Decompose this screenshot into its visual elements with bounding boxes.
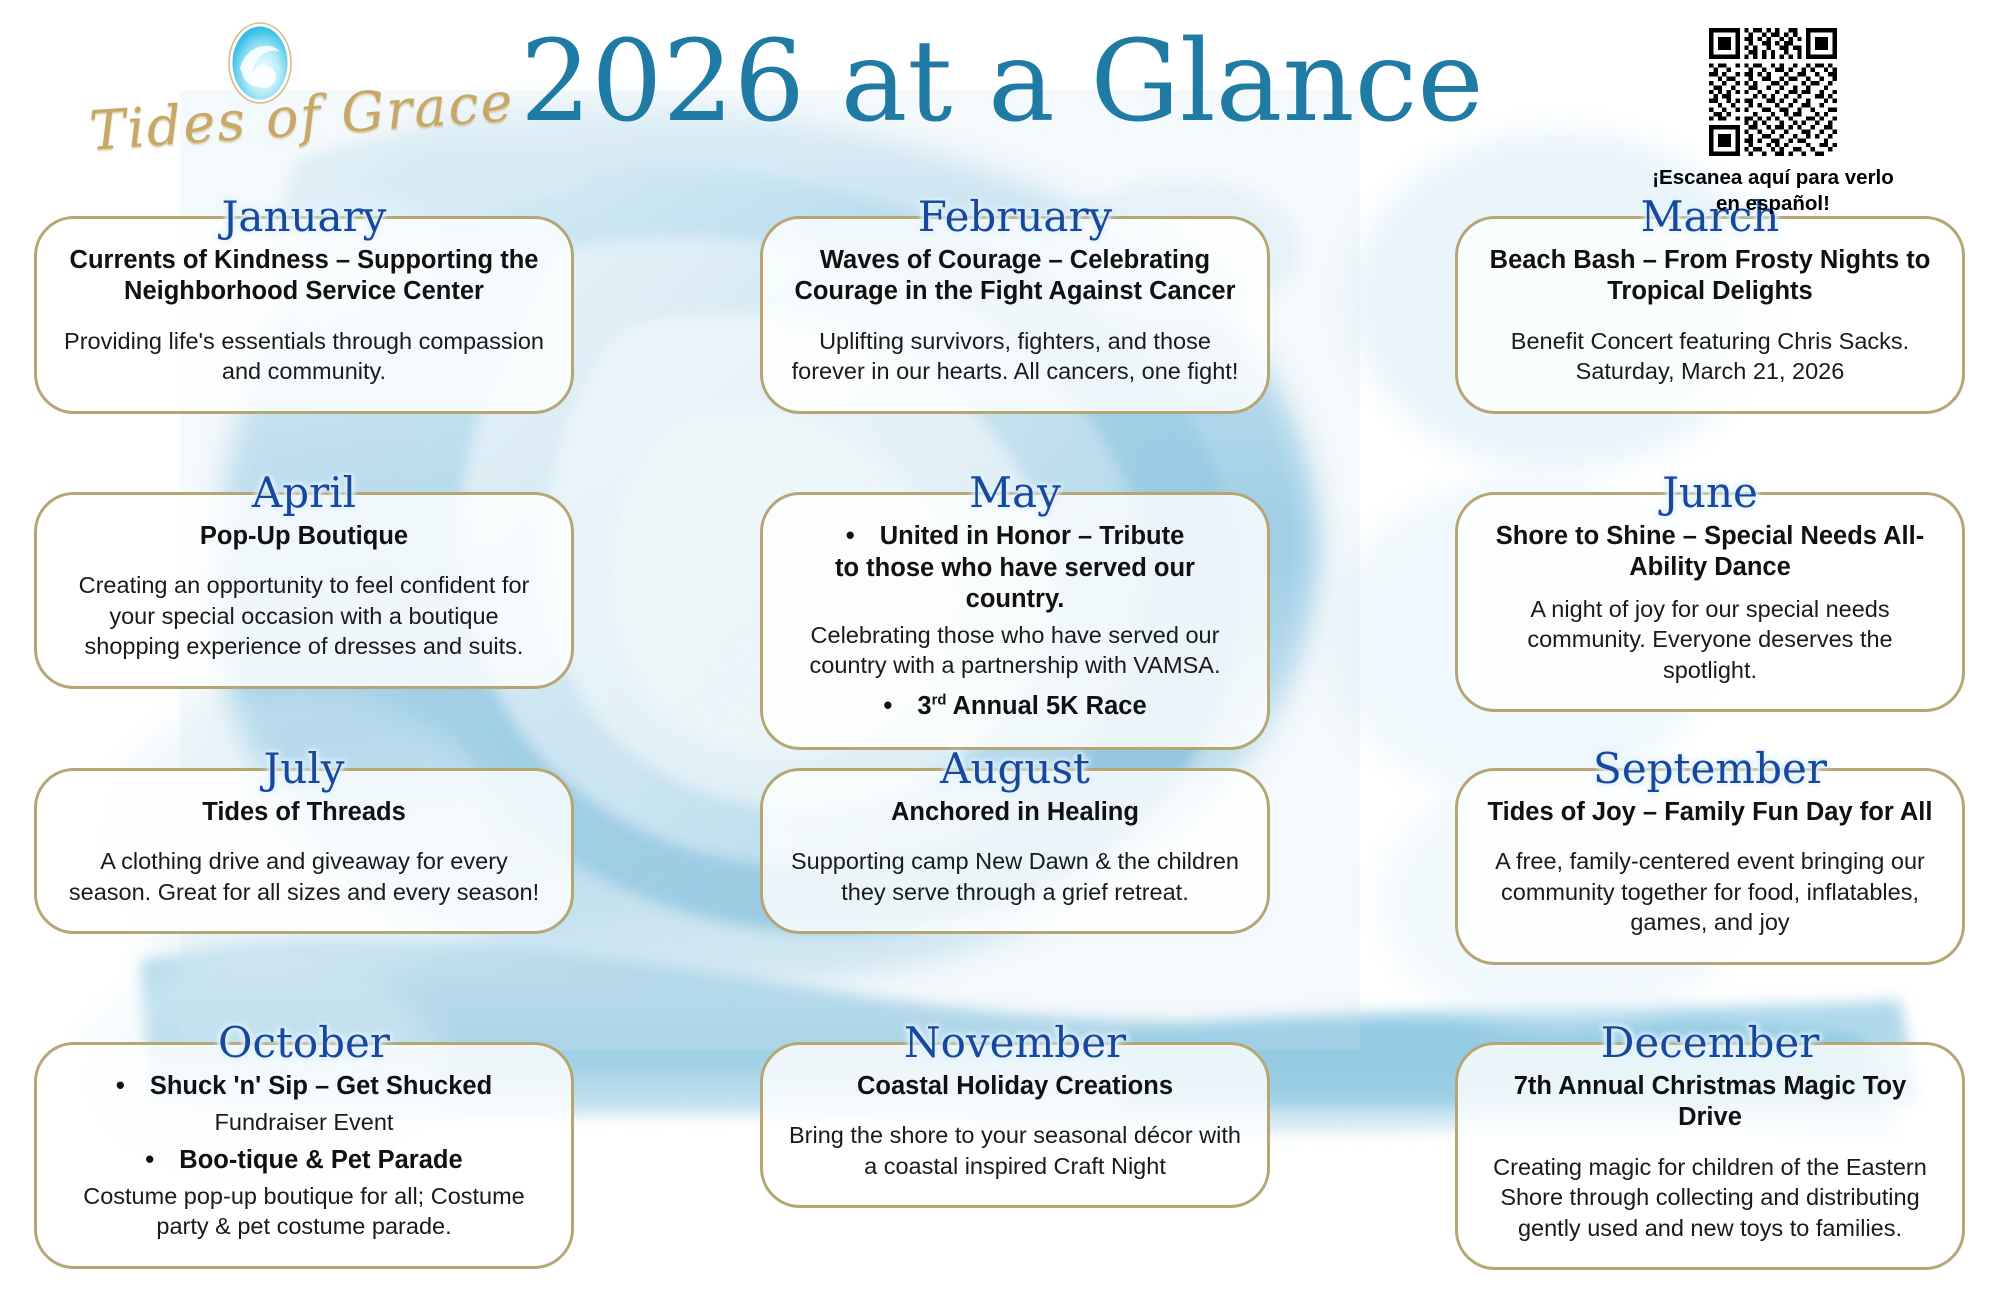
qr-caption-line-1: ¡Escanea aquí para verlo [1652,166,1894,189]
month-label-september: September [1581,748,1839,790]
month-card-september[interactable]: September Tides of Joy – Family Fun Day … [1455,748,1965,965]
card-title: 7th Annual Christmas Magic Toy Drive [1484,1071,1936,1134]
bullet-text: Annual 5K Race [946,692,1146,720]
month-card-may[interactable]: May •United in Honor – Tribute to those … [760,472,1270,750]
bullet-text-number: 3 [917,692,931,720]
brand-logo: Tides of Grace [90,14,480,174]
card-title: Shore to Shine – Special Needs All-Abili… [1484,521,1936,584]
month-card-april[interactable]: April Pop-Up Boutique Creating an opport… [34,472,574,689]
month-label-december: December [1589,1022,1832,1064]
card-title: Waves of Courage – Celebrating Courage i… [789,245,1241,308]
card-subtitle: Benefit Concert featuring Chris Sacks. S… [1484,326,1936,387]
month-label-april: April [240,472,368,514]
month-label-august: August [928,748,1102,790]
card-note: Celebrating those who have served our co… [789,620,1241,681]
card-subtitle: Supporting camp New Dawn & the children … [789,846,1241,907]
qr-caption: ¡Escanea aquí para verlo en español! [1638,165,1908,217]
card-note-2: Costume pop-up boutique for all; Costume… [63,1181,545,1242]
card-bullet-list-2: •Boo-tique & Pet Parade [63,1145,545,1177]
month-card-october[interactable]: October •Shuck 'n' Sip – Get Shucked Fun… [34,1022,574,1269]
card-subtitle: Creating an opportunity to feel confiden… [63,570,545,662]
month-card-june[interactable]: June Shore to Shine – Special Needs All-… [1455,472,1965,712]
month-card-march[interactable]: March Beach Bash – From Frosty Nights to… [1455,196,1965,414]
card-bullet-list: •United in Honor – Tribute to those who … [789,521,1241,616]
card-title: Tides of Joy – Family Fun Day for All [1484,797,1936,828]
qr-code-icon[interactable] [1709,28,1837,156]
month-card-july[interactable]: July Tides of Threads A clothing drive a… [34,748,574,934]
bullet-dot-icon: • [116,1071,150,1103]
month-label-november: November [892,1022,1138,1064]
qr-caption-line-2: en español! [1716,192,1830,215]
bullet-dot-icon: • [846,521,880,553]
bullet-dot-icon: • [883,691,917,723]
months-grid: January Currents of Kindness – Supportin… [0,190,2000,1294]
bullet-dot-icon: • [145,1145,179,1177]
bullet-text: Shuck 'n' Sip – Get Shucked [150,1072,492,1100]
card-subtitle: Creating magic for children of the Easte… [1484,1152,1936,1244]
month-label-october: October [206,1022,402,1064]
card-subtitle: Bring the shore to your seasonal décor w… [789,1120,1241,1181]
card-bullet-list-2: •3rd Annual 5K Race [789,691,1241,723]
month-card-december[interactable]: December 7th Annual Christmas Magic Toy … [1455,1022,1965,1270]
page-header: Tides of Grace 2026 at a Glance [0,0,2000,185]
brand-name: Tides of Grace [87,73,482,190]
month-card-august[interactable]: August Anchored in Healing Supporting ca… [760,748,1270,934]
month-card-january[interactable]: January Currents of Kindness – Supportin… [34,196,574,414]
card-title: Beach Bash – From Frosty Nights to Tropi… [1484,245,1936,308]
card-title: Pop-Up Boutique [63,521,545,552]
card-subtitle: A night of joy for our special needs com… [1484,594,1936,686]
bullet-text-continued: to those who have served our country. [789,553,1241,616]
ordinal-suffix: rd [932,692,947,708]
card-title: Anchored in Healing [789,797,1241,828]
month-label-may: May [957,472,1073,514]
month-label-july: July [251,748,356,790]
card-subtitle: Uplifting survivors, fighters, and those… [789,326,1241,387]
card-bullet-list: •Shuck 'n' Sip – Get Shucked [63,1071,545,1103]
month-card-november[interactable]: November Coastal Holiday Creations Bring… [760,1022,1270,1208]
month-label-january: January [210,196,399,238]
qr-block: ¡Escanea aquí para verlo en español! [1638,28,1908,217]
month-label-february: February [906,196,1125,238]
month-label-june: June [1650,472,1770,514]
list-item: •Boo-tique & Pet Parade [63,1145,545,1177]
page-title: 2026 at a Glance [520,24,1480,142]
card-title: Tides of Threads [63,797,545,828]
list-item: •Shuck 'n' Sip – Get Shucked [63,1071,545,1103]
card-subtitle: A clothing drive and giveaway for every … [63,846,545,907]
list-item: •3rd Annual 5K Race [789,691,1241,723]
list-item: •United in Honor – Tribute to those who … [789,521,1241,616]
month-card-february[interactable]: February Waves of Courage – Celebrating … [760,196,1270,414]
card-title: Currents of Kindness – Supporting the Ne… [63,245,545,308]
bullet-text: United in Honor – Tribute [880,522,1185,550]
bullet-text: Boo-tique & Pet Parade [179,1146,462,1174]
card-subtitle: A free, family-centered event bringing o… [1484,846,1936,938]
card-title: Coastal Holiday Creations [789,1071,1241,1102]
card-subtitle: Providing life's essentials through comp… [63,326,545,387]
card-note: Fundraiser Event [63,1107,545,1138]
